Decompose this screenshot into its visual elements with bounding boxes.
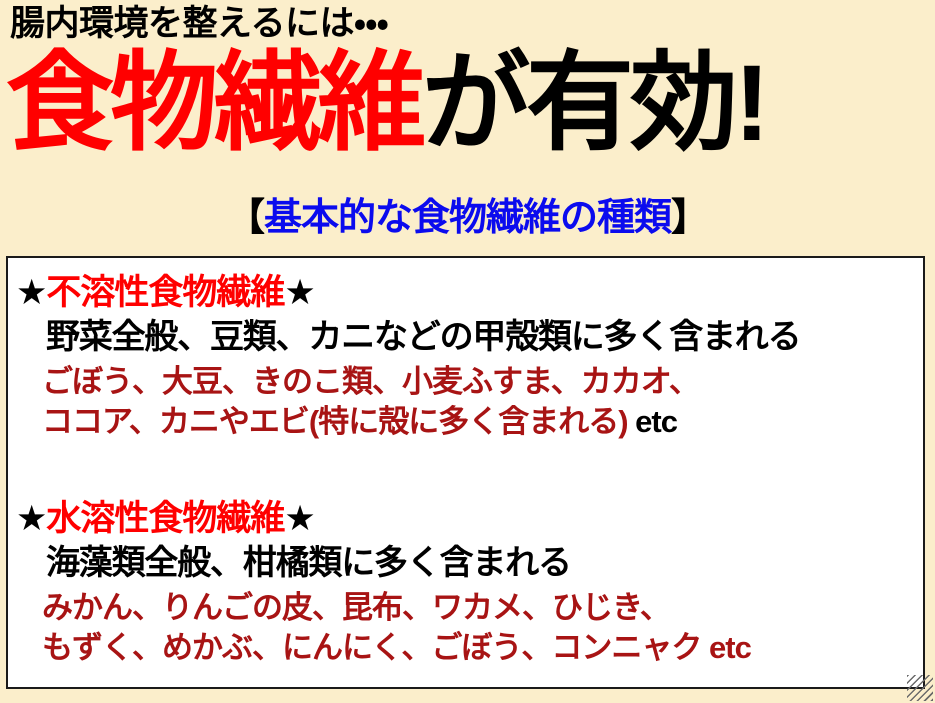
star-icon-left: ★: [16, 273, 46, 312]
section-heading-soluble: ★水溶性食物繊維★: [8, 498, 923, 539]
food-list-soluble: みかん、りんごの皮、昆布、ワカメ、ひじき、 もずく、めかぶ、にんにく、ごぼう、コ…: [8, 588, 923, 667]
star-icon-right: ★: [284, 499, 314, 538]
section-title-insoluble: 不溶性食物繊維: [46, 273, 284, 312]
section-description-insoluble: 野菜全般、豆類、カニなどの甲殻類に多く含まれる: [8, 315, 923, 359]
section-heading-insoluble: ★不溶性食物繊維★: [8, 272, 923, 313]
fiber-block-insoluble: ★不溶性食物繊維★ 野菜全般、豆類、カニなどの甲殻類に多く含まれる ごぼう、大豆…: [8, 272, 923, 442]
content-panel: ★不溶性食物繊維★ 野菜全般、豆類、カニなどの甲殻類に多く含まれる ごぼう、大豆…: [6, 256, 925, 689]
hero-headline: 食物繊維が有効!: [6, 46, 766, 159]
resize-grip-icon[interactable]: [907, 675, 933, 701]
list-item-text: ココア、カニやエビ(特に殻に多く含まれる): [42, 404, 628, 439]
list-item-suffix: etc: [701, 630, 750, 665]
section-title-soluble: 水溶性食物繊維: [46, 499, 284, 538]
subtitle-text: 基本的な食物繊維の種類: [264, 197, 671, 239]
list-item-text: みかん、りんごの皮、昆布、ワカメ、ひじき、: [42, 590, 670, 625]
food-list-insoluble: ごぼう、大豆、きのこ類、小麦ふすま、カカオ、 ココア、カニやエビ(特に殻に多く含…: [8, 362, 923, 441]
hero-rest-text: が有効!: [422, 42, 766, 163]
list-item: ごぼう、大豆、きのこ類、小麦ふすま、カカオ、: [42, 362, 923, 402]
list-item-suffix: etc: [628, 404, 677, 439]
list-item: ココア、カニやエビ(特に殻に多く含まれる) etc: [42, 402, 923, 442]
hero-highlight-text: 食物繊維: [6, 42, 422, 163]
list-item-text: もずく、めかぶ、にんにく、ごぼう、コンニャク: [42, 630, 701, 665]
list-item: もずく、めかぶ、にんにく、ごぼう、コンニャク etc: [42, 628, 923, 668]
kicker-text: 腸内環境を整えるには・・・: [10, 4, 388, 44]
subtitle: 【基本的な食物繊維の種類】: [0, 198, 935, 240]
fiber-block-soluble: ★水溶性食物繊維★ 海藻類全般、柑橘類に多く含まれる みかん、りんごの皮、昆布、…: [8, 498, 923, 668]
slide-canvas: 腸内環境を整えるには・・・ 食物繊維が有効! 【基本的な食物繊維の種類】 ★不溶…: [0, 0, 935, 703]
star-icon-right: ★: [284, 273, 314, 312]
star-icon-left: ★: [16, 499, 46, 538]
subtitle-bracket-close: 】: [671, 197, 708, 239]
list-item-text: ごぼう、大豆、きのこ類、小麦ふすま、カカオ、: [42, 364, 699, 399]
list-item: みかん、りんごの皮、昆布、ワカメ、ひじき、: [42, 588, 923, 628]
section-description-soluble: 海藻類全般、柑橘類に多く含まれる: [8, 541, 923, 585]
subtitle-bracket-open: 【: [227, 197, 264, 239]
